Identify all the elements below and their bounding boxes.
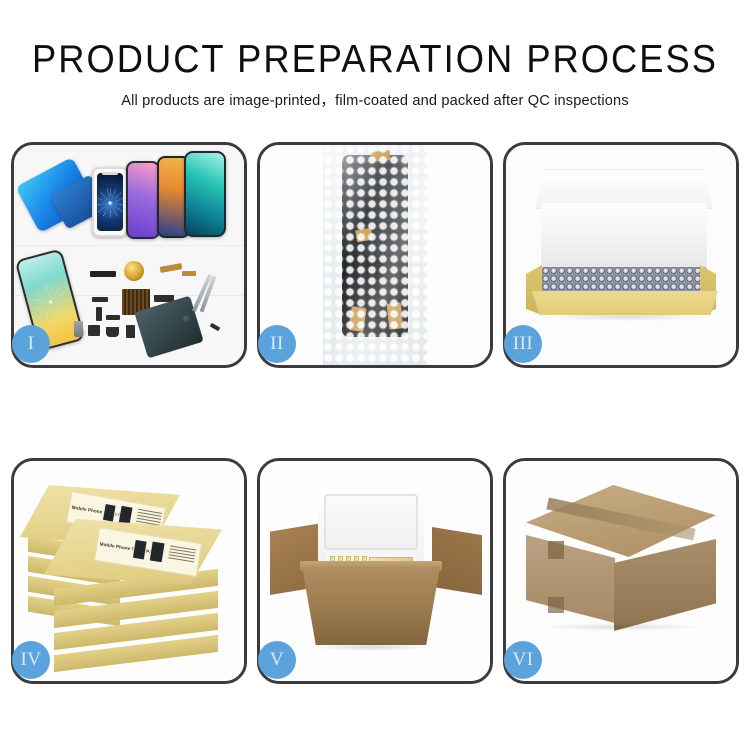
step-badge-3: III	[504, 325, 542, 363]
process-step-panel-6[interactable]: VI	[503, 458, 739, 684]
step-badge-6: VI	[504, 641, 542, 679]
drop-shadow	[546, 313, 706, 321]
process-step-panel-5[interactable]: V	[257, 458, 493, 684]
step-badge-2: II	[258, 325, 296, 363]
panel-4-image: Mobile Phone Spare Parts Mobile Phone Sp…	[14, 461, 244, 681]
process-step-panel-2[interactable]: II	[257, 142, 493, 368]
drop-shadow	[542, 623, 702, 631]
small-part-icon	[106, 327, 119, 337]
flex-cable-icon	[182, 271, 196, 276]
purple-phone-screen-icon	[126, 161, 160, 239]
crack-pattern-icon	[30, 281, 72, 323]
front-glass-panel-icon	[92, 167, 128, 237]
page-subtitle: All products are image-printed，film-coat…	[0, 91, 750, 111]
tape-patch-icon	[548, 597, 564, 613]
plastic-gloss	[323, 145, 427, 365]
step-badge-5: V	[258, 641, 296, 679]
camera-module-icon	[182, 315, 191, 324]
retail-box-top-front: Mobile Phone Spare Parts	[44, 519, 222, 585]
panel-1-image	[14, 145, 244, 365]
page-title: PRODUCT PREPARATION PROCESS	[26, 38, 724, 82]
crack-pattern-icon	[95, 188, 125, 218]
battery-part-icon	[74, 321, 83, 337]
connector-icon	[106, 315, 120, 320]
process-step-panel-3[interactable]: III	[503, 142, 739, 368]
foam-sheet-icon	[541, 203, 707, 271]
process-step-grid: I II	[11, 142, 739, 684]
connector-icon	[92, 297, 108, 302]
small-part-icon	[88, 325, 100, 336]
panel-3-image	[506, 145, 736, 365]
carton-body-icon	[302, 567, 440, 645]
bubble-wrap-layer-icon	[542, 267, 706, 293]
page-header: PRODUCT PREPARATION PROCESS All products…	[0, 0, 750, 111]
phone-thumbnail	[149, 540, 166, 563]
coil-part-icon	[124, 261, 144, 281]
small-part-icon	[126, 325, 135, 338]
step-badge-1: I	[12, 325, 50, 363]
drop-shadow	[312, 643, 430, 651]
chip-part-icon	[90, 271, 116, 277]
foam-cooler-lid-icon	[324, 494, 418, 550]
process-step-panel-4[interactable]: Mobile Phone Spare Parts Mobile Phone Sp…	[11, 458, 247, 684]
shelf-line	[14, 245, 244, 246]
process-step-panel-1[interactable]: I	[11, 142, 247, 368]
panel-2-image	[260, 145, 490, 365]
connector-icon	[96, 307, 102, 321]
panel-6-image	[506, 461, 736, 681]
phone-thumbnail	[132, 539, 148, 561]
box-label-bullets	[168, 545, 196, 564]
step-badge-4: IV	[12, 641, 50, 679]
tape-patch-icon	[548, 541, 564, 559]
kraft-box-front-icon	[532, 291, 718, 315]
teal-phone-screen-icon	[184, 151, 226, 237]
panel-5-image	[260, 461, 490, 681]
